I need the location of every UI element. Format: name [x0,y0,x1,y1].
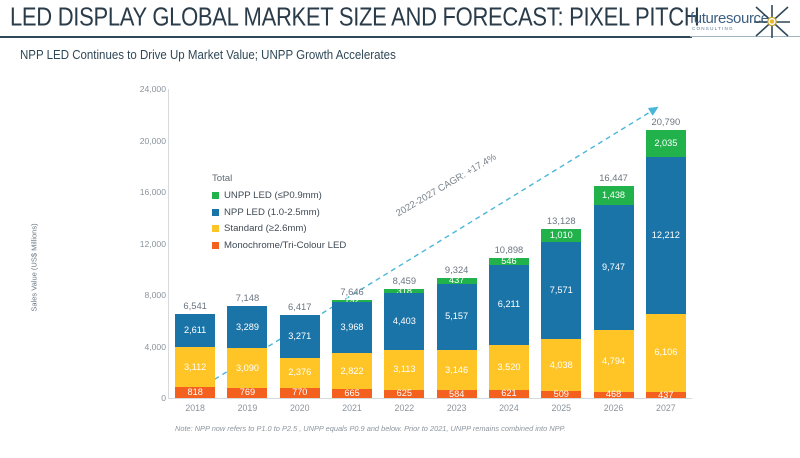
bar-segment[interactable]: 437 [646,392,686,398]
x-axis-tick-label: 2027 [646,403,686,413]
bar-segment-label: 1,010 [550,231,573,240]
bar-segment-label: 584 [449,390,464,399]
bar-total-label: 16,447 [599,172,628,183]
bar-total-label: 6,541 [183,300,206,311]
bar-segment[interactable]: 769 [227,388,267,398]
bar-segment[interactable]: 3,968 [332,302,372,353]
bar-segment[interactable]: 621 [489,390,529,398]
bar-segment[interactable]: 625 [384,390,424,398]
bar-segment-label: 818 [187,388,202,397]
bar-segment[interactable]: 7,571 [541,242,581,339]
y-axis-tick-label: 24,000 [122,84,166,94]
futuresource-logo: futuresource CONSULTING [690,4,794,38]
y-axis-tick-label: 8,000 [122,290,166,300]
bar-segment-label: 468 [606,390,621,399]
bar-column[interactable]: 16,4471,4389,7474,794468 [594,186,634,398]
bar-segment[interactable]: 3,090 [227,348,267,388]
x-axis-tick-label: 2024 [489,403,529,413]
page-title: LED DISPLAY GLOBAL MARKET SIZE AND FOREC… [10,2,699,33]
bar-segment[interactable]: 770 [280,388,320,398]
bar-segment[interactable]: 3,289 [227,306,267,348]
x-axis-tick-label: 2018 [175,403,215,413]
bar-segment-label: 3,289 [236,323,259,332]
legend-item[interactable]: UNPP LED (≤P0.9mm) [212,190,346,201]
bar-segment-label: 3,112 [184,363,206,372]
bar-segment[interactable]: 3,520 [489,345,529,390]
legend-item-label: Standard (≥2.6mm) [224,223,307,234]
bar-segment-label: 2,822 [341,367,364,376]
bar-segment[interactable]: 584 [437,390,477,398]
x-axis-tick-label: 2026 [594,403,634,413]
bar-segment-label: 4,794 [602,357,625,366]
star-burst-icon [752,5,792,39]
bar-column[interactable]: 7,6461923,9682,822665 [332,300,372,398]
bar-segment-label: 4,038 [550,361,573,370]
legend-item[interactable]: NPP LED (1.0-2.5mm) [212,207,346,218]
bar-total-label: 9,324 [445,264,468,275]
stacked-bar-chart: Sales Value (US$ Millions) 04,0008,00012… [0,78,800,428]
bar-segment-label: 3,968 [341,323,364,332]
y-axis-tick-label: 0 [122,393,166,403]
bar-segment[interactable]: 9,747 [594,205,634,330]
bar-segment[interactable]: 4,038 [541,339,581,391]
bar-segment-label: 621 [501,389,516,398]
bar-segment-label: 3,113 [393,365,415,374]
bar-column[interactable]: 10,8985466,2113,520621 [489,258,529,398]
bar-segment-label: 6,106 [654,348,677,357]
bar-segment[interactable]: 2,822 [332,353,372,389]
bar-segment-label: 9,747 [602,263,625,272]
bar-segment[interactable]: 3,146 [437,350,477,391]
legend-swatch-icon [212,242,219,249]
bar-total-label: 8,459 [393,275,416,286]
bar-total-label: 13,128 [547,215,576,226]
bar-column[interactable]: 6,4173,2712,376770 [280,315,320,398]
bar-column[interactable]: 20,7902,03512,2126,106437 [646,130,686,398]
bar-column[interactable]: 8,4593184,4033,113625 [384,289,424,398]
bar-segment-label: 4,403 [393,317,416,326]
legend-item-label: NPP LED (1.0-2.5mm) [224,207,320,218]
bar-segment-label: 3,271 [288,332,311,341]
cagr-annotation-label: 2022-2027 CAGR: +17.4% [394,152,498,220]
bar-segment-label: 769 [240,388,255,397]
bar-segment[interactable]: 665 [332,389,372,398]
legend-swatch-icon [212,192,219,199]
x-axis-tick-label: 2021 [332,403,372,413]
bar-segment-label: 5,157 [445,312,468,321]
legend-item-label: UNPP LED (≤P0.9mm) [224,190,322,201]
bar-total-label: 6,417 [288,301,311,312]
bar-segment[interactable]: 4,794 [594,330,634,392]
bar-segment[interactable]: 546 [489,258,529,265]
chart-footnote: Note: NPP now refers to P1.0 to P2.5 , U… [175,424,566,433]
bar-segment[interactable]: 1,010 [541,229,581,242]
bar-total-label: 10,898 [495,244,524,255]
bar-segment[interactable]: 5,157 [437,284,477,350]
bar-segment[interactable]: 2,376 [280,358,320,389]
bar-column[interactable]: 9,3244375,1573,146584 [437,278,477,398]
bar-segment-label: 2,611 [184,326,206,335]
bar-segment[interactable]: 2,611 [175,314,215,348]
title-divider [0,36,692,38]
legend-item[interactable]: Monochrome/Tri-Colour LED [212,240,346,251]
legend-item-label: Monochrome/Tri-Colour LED [224,240,346,251]
bar-segment[interactable]: 12,212 [646,157,686,314]
bar-segment[interactable]: 4,403 [384,293,424,350]
subtitle: NPP LED Continues to Drive Up Market Val… [20,49,396,62]
x-axis-tick-label: 2025 [541,403,581,413]
x-axis-tick-label: 2023 [437,403,477,413]
y-axis-title: Sales Value (US$ Millions) [30,198,39,338]
bar-total-label: 20,790 [652,116,681,127]
bar-segment-label: 665 [344,389,359,398]
bar-column[interactable]: 13,1281,0107,5714,038509 [541,229,581,398]
bar-segment-label: 1,438 [602,191,625,200]
bar-segment[interactable]: 3,113 [384,350,424,390]
legend-rows: UNPP LED (≤P0.9mm)NPP LED (1.0-2.5mm)Sta… [212,190,346,251]
bar-total-label: 7,148 [236,292,259,303]
bar-segment-label: 3,090 [236,364,259,373]
y-axis-tick-label: 16,000 [122,187,166,197]
bar-segment-label: 3,146 [445,366,468,375]
bar-segment-label: 2,376 [288,368,311,377]
x-axis-tick-label: 2020 [280,403,320,413]
bar-segment-label: 2,035 [654,139,677,148]
bar-segment[interactable]: 6,106 [646,314,686,393]
bar-column[interactable]: 7,1483,2893,090769 [227,306,267,398]
x-axis-tick-label: 2019 [227,403,267,413]
bar-segment-label: 6,211 [498,300,520,309]
bar-segment[interactable]: 2,035 [646,130,686,156]
logo-tagline: CONSULTING [692,26,734,31]
bar-segment[interactable]: 818 [175,387,215,398]
bar-segment[interactable]: 468 [594,392,634,398]
bar-segment[interactable]: 1,438 [594,186,634,205]
bar-segment-label: 3,520 [497,363,520,372]
legend-total-label: Total [212,173,346,184]
bar-segment[interactable]: 509 [541,391,581,398]
bar-segment-label: 7,571 [550,286,573,295]
y-axis-tick-label: 12,000 [122,239,166,249]
bar-segment-label: 625 [397,389,412,398]
bar-segment-label: 12,212 [652,231,680,240]
bar-segment[interactable]: 6,211 [489,265,529,345]
y-axis-tick-label: 4,000 [122,342,166,352]
legend-swatch-icon [212,225,219,232]
bar-segment[interactable]: 3,271 [280,315,320,357]
bar-segment[interactable]: 3,112 [175,347,215,387]
bar-column[interactable]: 6,5412,6113,112818 [175,314,215,398]
bar-segment-label: 770 [292,388,307,397]
legend-item[interactable]: Standard (≥2.6mm) [212,223,346,234]
chart-legend: Total UNPP LED (≤P0.9mm)NPP LED (1.0-2.5… [212,173,346,256]
x-axis-tick-label: 2022 [384,403,424,413]
legend-swatch-icon [212,209,219,216]
page-header: LED DISPLAY GLOBAL MARKET SIZE AND FOREC… [0,0,800,42]
bar-segment-label: 437 [658,391,673,400]
bar-segment-label: 509 [554,390,569,399]
y-axis-tick-label: 20,000 [122,136,166,146]
y-axis-ticks: 04,0008,00012,00016,00020,00024,000 [118,78,166,398]
